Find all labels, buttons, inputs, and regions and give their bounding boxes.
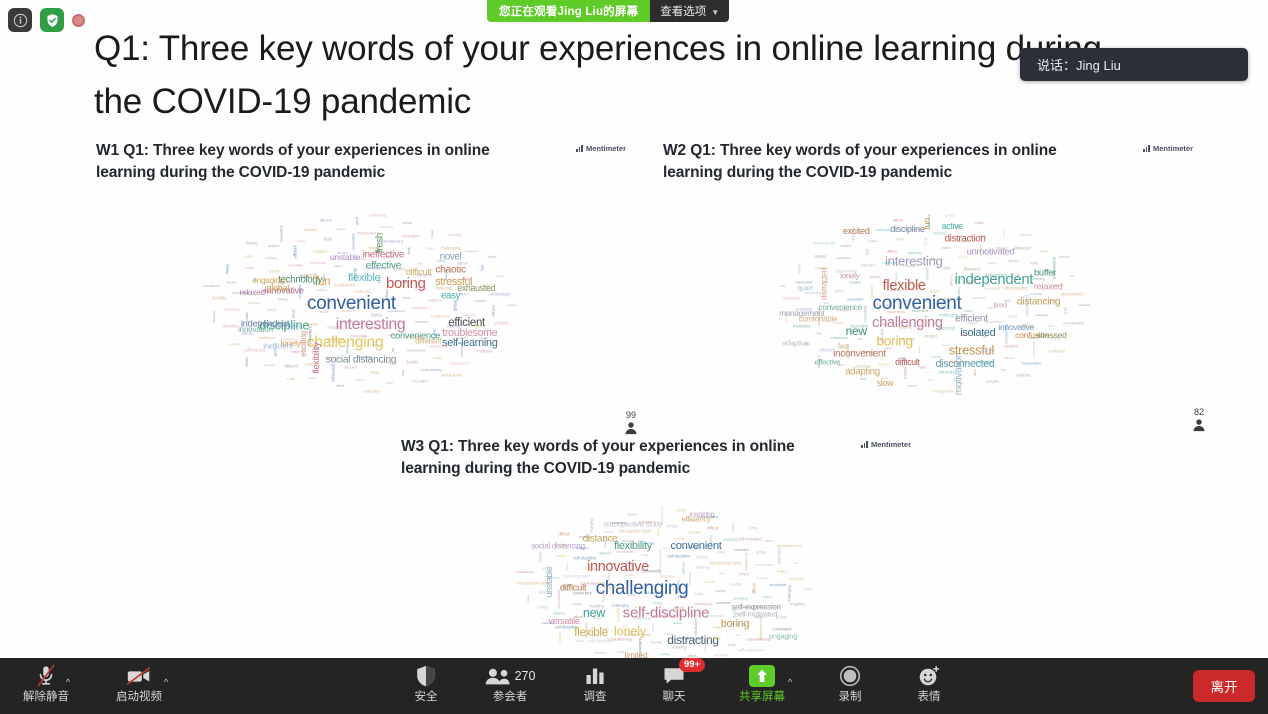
panel-title-w2: W2 Q1: Three key words of your experienc… [663,140,1113,184]
cloud-word-minor: difficult [751,584,756,595]
person-icon [1192,418,1206,432]
security-label: 安全 [415,690,438,704]
reactions-label: 表情 [918,690,941,704]
cloud-word-minor: adapting [1039,249,1048,253]
cloud-word-minor: challenging [363,388,380,393]
respondent-counter-w3: 99 [624,411,638,435]
cloud-word-minor: self-expression [705,614,725,618]
cloud-word-minor: relaxed [933,231,946,236]
cloud-word-minor: convenience [406,347,425,352]
share-banner-text: 您正在观看Jing Liu的屏幕 [487,0,650,22]
cloud-word-minor: fun [391,347,395,351]
cloud-word-minor: quiet [1062,308,1067,315]
cloud-word-minor: different [284,363,297,368]
cloud-word-minor: inspiring [672,644,686,649]
cloud-word-minor: ineffective [304,228,317,232]
cloud-word-minor: retrospective study [619,529,651,534]
cloud-word-minor: versatile [703,643,707,652]
cloud-word-minor: ineffective [435,286,452,291]
cloud-word-minor: unstable [494,321,509,326]
cloud-word-minor: distraction [1004,356,1015,360]
cloud-word-minor: flexibility [695,592,703,596]
cloud-word-minor: lonely [675,595,685,600]
speaking-toast-text: 说话：Jing Liu [1037,55,1121,74]
cloud-word-minor: boring [602,537,607,548]
cloud-word-minor: discipline [344,364,357,369]
cloud-word-minor: comfy [287,377,295,381]
cloud-word-minor: limited [777,569,786,574]
cloud-word-minor: self-discipline [667,554,690,559]
cloud-word-minor: stressed [979,245,983,256]
bar-chart-icon [585,663,605,689]
cloud-word-minor: versatile [688,530,700,535]
word-cloud-w2: convenientindependentflexiblechallenging… [773,206,1093,401]
cloud-word-minor: retrospective study [517,580,549,585]
cloud-word-minor: convenience [363,266,385,271]
chat-unread-badge: 99+ [679,658,705,672]
mentimeter-label: Mentimeter [1153,144,1193,153]
cloud-word-minor: difficult [887,248,897,253]
polls-label: 调查 [584,690,607,704]
share-options-caret-icon[interactable]: ^ [788,677,792,687]
cloud-word-minor: relaxed [334,264,342,268]
cloud-word-minor: social distancing [387,309,405,313]
record-circle-icon [839,663,861,689]
person-icon [624,421,638,435]
cloud-word-minor: boring [537,604,548,609]
cloud-word-minor: stressful [1002,230,1006,239]
cloud-word-minor: chaotic [431,328,436,339]
cloud-word-minor: convenient [796,280,812,285]
view-options-button[interactable]: 查看选项 ▼ [650,0,729,22]
cloud-word-minor: self-motivated [557,590,561,608]
cloud-word-minor: lonely [224,264,229,274]
cloud-word-minor: self-expression [755,563,775,567]
cloud-word: unmotivated [967,245,1015,256]
cloud-word-minor: exciting [381,359,392,364]
bar-chart-icon [861,441,868,448]
cloud-word-minor: technology [490,292,509,297]
cloud-word-minor: social distancing [420,368,441,372]
cloud-word-minor: flexible [320,310,329,314]
cloud-word-minor: difficult [574,615,582,619]
cloud-word-minor: confusion [870,286,874,299]
cloud-word-minor: effective [819,347,833,352]
cloud-word-minor: convenient [212,311,216,323]
cloud-word-minor: ineffective [317,288,328,292]
cloud-word-minor: innovative [985,285,1000,290]
cloud-word-minor: flexible [732,608,737,618]
cloud-word-minor: convenience [985,320,1002,324]
cloud-word-minor: distracting [688,572,692,585]
cloud-word-minor: independent [411,306,428,310]
cloud-word-minor: innovative [1049,283,1064,288]
cloud-word-minor: distance [553,611,566,616]
cloud-word-minor: distance [763,595,772,599]
cloud-word-minor: difficult [336,384,344,388]
cloud-word-minor: isolated [815,253,826,258]
cloud-word-minor: disconnected [1060,292,1083,297]
cloud-word-minor: unstable [789,576,804,581]
cloud-word-minor: fun [817,331,822,336]
cloud-word-minor: independent [281,337,295,341]
cloud-word-minor: new [735,633,740,637]
cloud-word-minor: isolated [1028,336,1036,340]
respondent-count-value: 82 [1194,408,1204,417]
view-options-label: 查看选项 [660,3,706,19]
cloud-word-minor: convenient [772,626,791,631]
cloud-word-minor: social distancing [694,602,712,606]
cloud-word-minor: versatile [625,573,634,577]
cloud-word-minor: excited [924,334,936,339]
cloud-word-minor: boring [356,378,363,382]
participants-count: 270 [515,669,536,683]
cloud-word-minor: quiet [1003,297,1010,302]
cloud-word-minor: interesting [341,309,354,313]
cloud-word-minor: innovative [757,576,768,580]
cloud-word-minor: convenience [813,240,835,245]
cloud-word-minor: interesting [224,306,239,311]
cloud-word-minor: lonely [928,378,934,382]
cloud-word-minor: challenging [676,581,680,593]
recording-dot-icon[interactable] [72,14,85,27]
cloud-word-minor: unmotivated [1063,321,1084,326]
share-screen-button[interactable]: 共享屏幕 ^ [726,663,798,709]
cloud-word-minor: lonely [602,627,610,631]
share-screen-icon [749,663,775,689]
video-options-caret-icon[interactable]: ^ [164,677,168,687]
cloud-word-minor: tired [919,364,925,369]
cloud-word-minor: convenience [835,268,857,273]
cloud-word-minor: versatile [803,587,812,591]
cloud-word-minor: confusion [1017,324,1034,329]
shield-icon[interactable] [40,8,64,32]
security-button[interactable]: 安全 [390,663,462,709]
screen-share-banner: 您正在观看Jing Liu的屏幕 查看选项 ▼ [487,0,729,22]
cloud-word-minor: independent [1051,257,1056,278]
cloud-word-minor: interesting [1032,277,1045,281]
cloud-word-minor: efficient [385,289,389,299]
cloud-word-minor: interesting [793,324,810,329]
cloud-word-minor: novel [398,321,404,325]
cloud-word-minor: social distancing [273,323,301,328]
cloud-word-minor: self-motivated [738,536,762,541]
cloud-word-minor: flexible [958,238,968,243]
cloud-word-minor: discipline [868,239,878,243]
cloud-word-minor: interesting [430,344,447,349]
cloud-word-minor: troublesome [441,373,462,378]
cloud-word-minor: exhausted [330,364,335,382]
reactions-button[interactable]: 表情 [893,663,965,709]
cloud-word-minor: challenging [939,313,958,318]
cloud-word-minor: distracted [862,350,875,354]
cloud-word-minor: disconnected [887,310,905,314]
cloud-word-minor: new [622,624,627,628]
cloud-word-minor: lonely [401,370,405,376]
cloud-word-minor: difficult [673,606,684,611]
cloud-word-minor: interesting [957,287,961,300]
cloud-word-minor: self-learning [343,320,361,325]
cloud-word-minor: buffer [857,337,863,341]
wordcloud-panel-w3: W3 Q1: Three key words of your experienc… [401,436,911,658]
cloud-word-minor: boring [665,632,673,636]
cloud-word-minor: challenging [405,335,420,339]
cloud-word-minor: convenient [847,297,863,302]
cloud-word-minor: new [542,566,548,571]
cloud-word-minor: chaotic [245,313,249,322]
cloud-word-minor: versatile [554,543,566,548]
cloud-word-minor: quiet [780,284,785,288]
cloud-word-minor: adaptive [1016,373,1031,378]
video-label: 启动视频 [116,690,162,704]
cloud-word-minor: engaging [571,602,581,606]
cloud-word-minor: stressful [337,251,348,255]
cloud-word-minor: independent [985,273,1006,278]
cloud-word-minor: inconvenient [837,256,851,260]
cloud-word-minor: distance [731,522,735,531]
cloud-word-minor: challenging [354,288,371,293]
cloud-word-minor: fun [479,266,484,271]
cloud-word-minor: different [320,217,332,222]
cloud-word-minor: unmotivated [872,303,888,307]
chat-button[interactable]: 99+ 聊天 [638,663,710,709]
cloud-word-minor: technology [265,256,277,260]
cloud-word-minor: convenient [943,298,947,310]
cloud-word-minor: fast [983,335,988,339]
cloud-word-minor: discipline [329,299,339,303]
cloud-word-minor: adaptive [1003,344,1018,349]
cloud-word-minor: challenging [541,621,553,625]
cloud-word-minor: self-expression [658,549,663,575]
cloud-word-minor: social distancing [746,636,770,641]
cloud-word-minor: convenient [460,343,464,357]
cloud-word-minor: flexible [227,280,237,285]
cloud-word-minor: adapting [987,261,996,265]
cloud-word-minor: quiet [823,301,828,305]
cloud-word-minor: efficiency [651,622,655,632]
mute-options-caret-icon[interactable]: ^ [66,677,70,687]
cloud-word-minor: effective [461,277,472,281]
cloud-word-minor: easy [371,369,379,374]
cloud-word-minor: inspiring [709,536,713,547]
cloud-word: excited [843,226,870,236]
cloud-word-minor: management [948,359,968,364]
cloud-word: slow [877,378,893,388]
cloud-word-minor: engaging [659,652,669,656]
cloud-word-minor: fresh [323,237,332,242]
cloud-word-minor: unstable [703,580,714,584]
cloud-word-minor: troublesome [379,225,393,229]
cloud-word-minor: global [322,275,326,281]
cloud-word-minor: effective [879,329,884,343]
chat-bubble-icon: 99+ [663,663,685,689]
cloud-word-minor: efficient [948,276,953,287]
cloud-word-minor: excited [941,246,950,250]
zoom-meeting-window: Q1: Three key words of your experiences … [0,0,1268,714]
cloud-word-minor: innovative [264,363,275,367]
cloud-word-minor: flexible [386,255,393,259]
cloud-word-minor: stressed [900,337,915,342]
cloud-word-minor: boring [278,297,287,302]
cloud-word-minor: challenging [682,635,699,640]
panel-title-w3: W3 Q1: Three key words of your experienc… [401,436,851,480]
cloud-word-minor: new [794,561,799,565]
cloud-word: inefficient [263,342,292,351]
cloud-word-minor: stressful [958,255,967,259]
leave-meeting-button[interactable]: 离开 [1193,670,1255,702]
cloud-word-minor: distance [673,621,682,625]
cloud-word-minor: inspiring [715,589,726,593]
cloud-word-minor: lonely [538,552,543,562]
cloud-word-minor: self-discipline [769,583,786,587]
cloud-word-minor: self-motivated [741,604,765,609]
cloud-word-minor: discipline [416,273,432,278]
info-icon[interactable] [8,8,32,32]
cloud-word-minor: efficiency [765,539,775,543]
cloud-word-minor: ineffective [304,361,319,366]
cloud-word-minor: flexibility [717,550,725,554]
cloud-word-minor: relaxed [242,331,253,336]
cloud-word-minor: engaging [588,519,593,533]
cloud-word-minor: distancing [937,325,954,330]
cloud-word-minor: adapting [899,324,912,329]
cloud-word-minor: difficult [893,217,903,222]
cloud-word-minor: flexible [488,255,497,259]
respondent-count-value: 99 [626,411,636,420]
cloud-word-minor: difficult [973,369,977,376]
participants-button[interactable]: 270 参会者 [474,663,546,709]
cloud-word-minor: comfortable [863,305,868,323]
cloud-word-minor: challenging [248,301,260,305]
cloud-word-minor: fresh [480,336,487,341]
cloud-word-minor: relaxed [907,384,917,388]
cloud-word-minor: tired [956,225,961,229]
mentimeter-label: Mentimeter [871,440,911,449]
cloud-word-minor: limited [663,546,670,550]
cloud-word-minor: innovation [402,234,420,239]
cloud-word-minor: unstable [673,537,684,541]
cloud-word-minor: unstable [616,608,621,623]
cloud-word-minor: flexible [406,360,418,365]
cloud-word-minor: convenience [465,249,479,253]
cloud-word-minor: active [1047,324,1055,328]
cloud-word-minor: convenient [350,234,355,250]
share-screen-label: 共享屏幕 [739,690,785,704]
cloud-word-minor: adaptive [869,275,880,279]
cloud-word-minor: lonely [945,213,954,218]
cloud-word-minor: comfortable [1078,303,1091,307]
cloud-word-minor: stressful [918,320,930,325]
cloud-word-minor: efficiency [695,565,709,570]
cloud-word-minor: versatile [593,616,602,620]
cloud-word-minor: lonely [728,643,736,647]
cloud-word-minor: novel [267,307,276,312]
cloud-word-minor: self-motivated [652,613,676,618]
polls-button[interactable]: 调查 [559,663,631,709]
cloud-word-minor: flexible [628,511,638,516]
cloud-word-minor: unmotivated [1024,296,1029,317]
cloud-word-minor: inefficient [428,297,442,302]
cloud-word-minor: fun [881,321,886,326]
cloud-word-minor: isolated [964,309,972,313]
cloud-word-minor: flexible [653,601,663,606]
cloud-word-minor: lonely [667,523,677,528]
cloud-word-minor: self-motivated [616,550,634,554]
cloud-word-minor: challenging [882,261,897,265]
cloud-word-minor: troublesome [334,283,355,288]
cloud-word-minor: engaging [327,337,343,342]
cloud-word-minor: boring [437,259,445,263]
mute-button[interactable]: 解除静音 ^ [10,663,82,709]
cloud-word-minor: boring [1052,336,1061,341]
meeting-status-chips [8,8,85,32]
record-button[interactable]: 录制 [814,663,886,709]
cloud-word-minor: difficult [457,261,467,266]
start-video-button[interactable]: 启动视频 ^ [103,663,175,709]
cloud-word-minor: new [958,381,964,385]
cloud-word-minor: efficient [245,357,249,367]
cloud-word-minor: distance [599,551,612,556]
cloud-word-minor: independent [357,231,378,236]
cloud-word-minor: distracted [963,266,980,271]
cloud-word-minor: inefficient [477,349,493,354]
cloud-word-minor: self-discipline [555,625,578,630]
cloud-word-minor: self-discipline [573,556,596,561]
cloud-word: distracted [820,268,829,300]
cloud-word-minor: fun [1070,274,1073,278]
cloud-word-minor: fun [253,279,257,282]
chat-label: 聊天 [663,690,686,704]
cloud-word-minor: comfy [269,268,280,273]
cloud-word-minor: technology [357,355,371,359]
cloud-word-minor: self-learning [310,261,326,265]
cloud-word-minor: distraction [860,262,875,267]
cloud-word-minor: self-discipline [645,591,662,595]
cloud-word-minor: flexibility [433,356,441,360]
cloud-word-minor: flexibility [776,615,788,620]
cloud-word-minor: self-expression [738,647,764,652]
cloud-word-minor: boring [371,313,382,318]
cloud-word-minor: efficiency [538,589,552,594]
cloud-word-minor: convenience [232,291,249,295]
cloud-word-minor: global [355,217,359,225]
cloud-word-minor: management [933,388,953,393]
emoji-icon [918,663,940,689]
video-off-icon [125,663,153,689]
cloud-word-minor: fast [1001,368,1006,372]
cloud-word-minor: comfy [480,283,489,288]
cloud-word-minor: stressful [456,336,465,340]
cloud-word-minor: active [796,264,801,274]
cloud-word-minor: challenging [875,228,890,232]
cloud-word-minor: flexible [756,549,766,554]
cloud-word-minor: convenient [371,298,375,310]
cloud-word-minor: efficient [996,245,1007,250]
cloud-word-minor: stressed [1021,233,1032,237]
mute-label: 解除静音 [23,690,69,704]
cloud-word-minor: inefficient [290,350,302,354]
cloud-word-minor: difficult [261,288,272,293]
panel-header-w3: W3 Q1: Three key words of your experienc… [401,436,911,480]
cloud-word-minor: exhausted [444,269,448,281]
cloud-word-minor: exciting [496,274,504,278]
cloud-word-minor: independent [450,360,469,365]
bar-chart-icon [1143,145,1150,152]
cloud-word-minor: lonely [291,310,296,319]
cloud-word-minor: self-expression [587,639,613,644]
cloud-word-minor: exciting [393,266,406,271]
cloud-word-minor: distracting [633,616,650,621]
